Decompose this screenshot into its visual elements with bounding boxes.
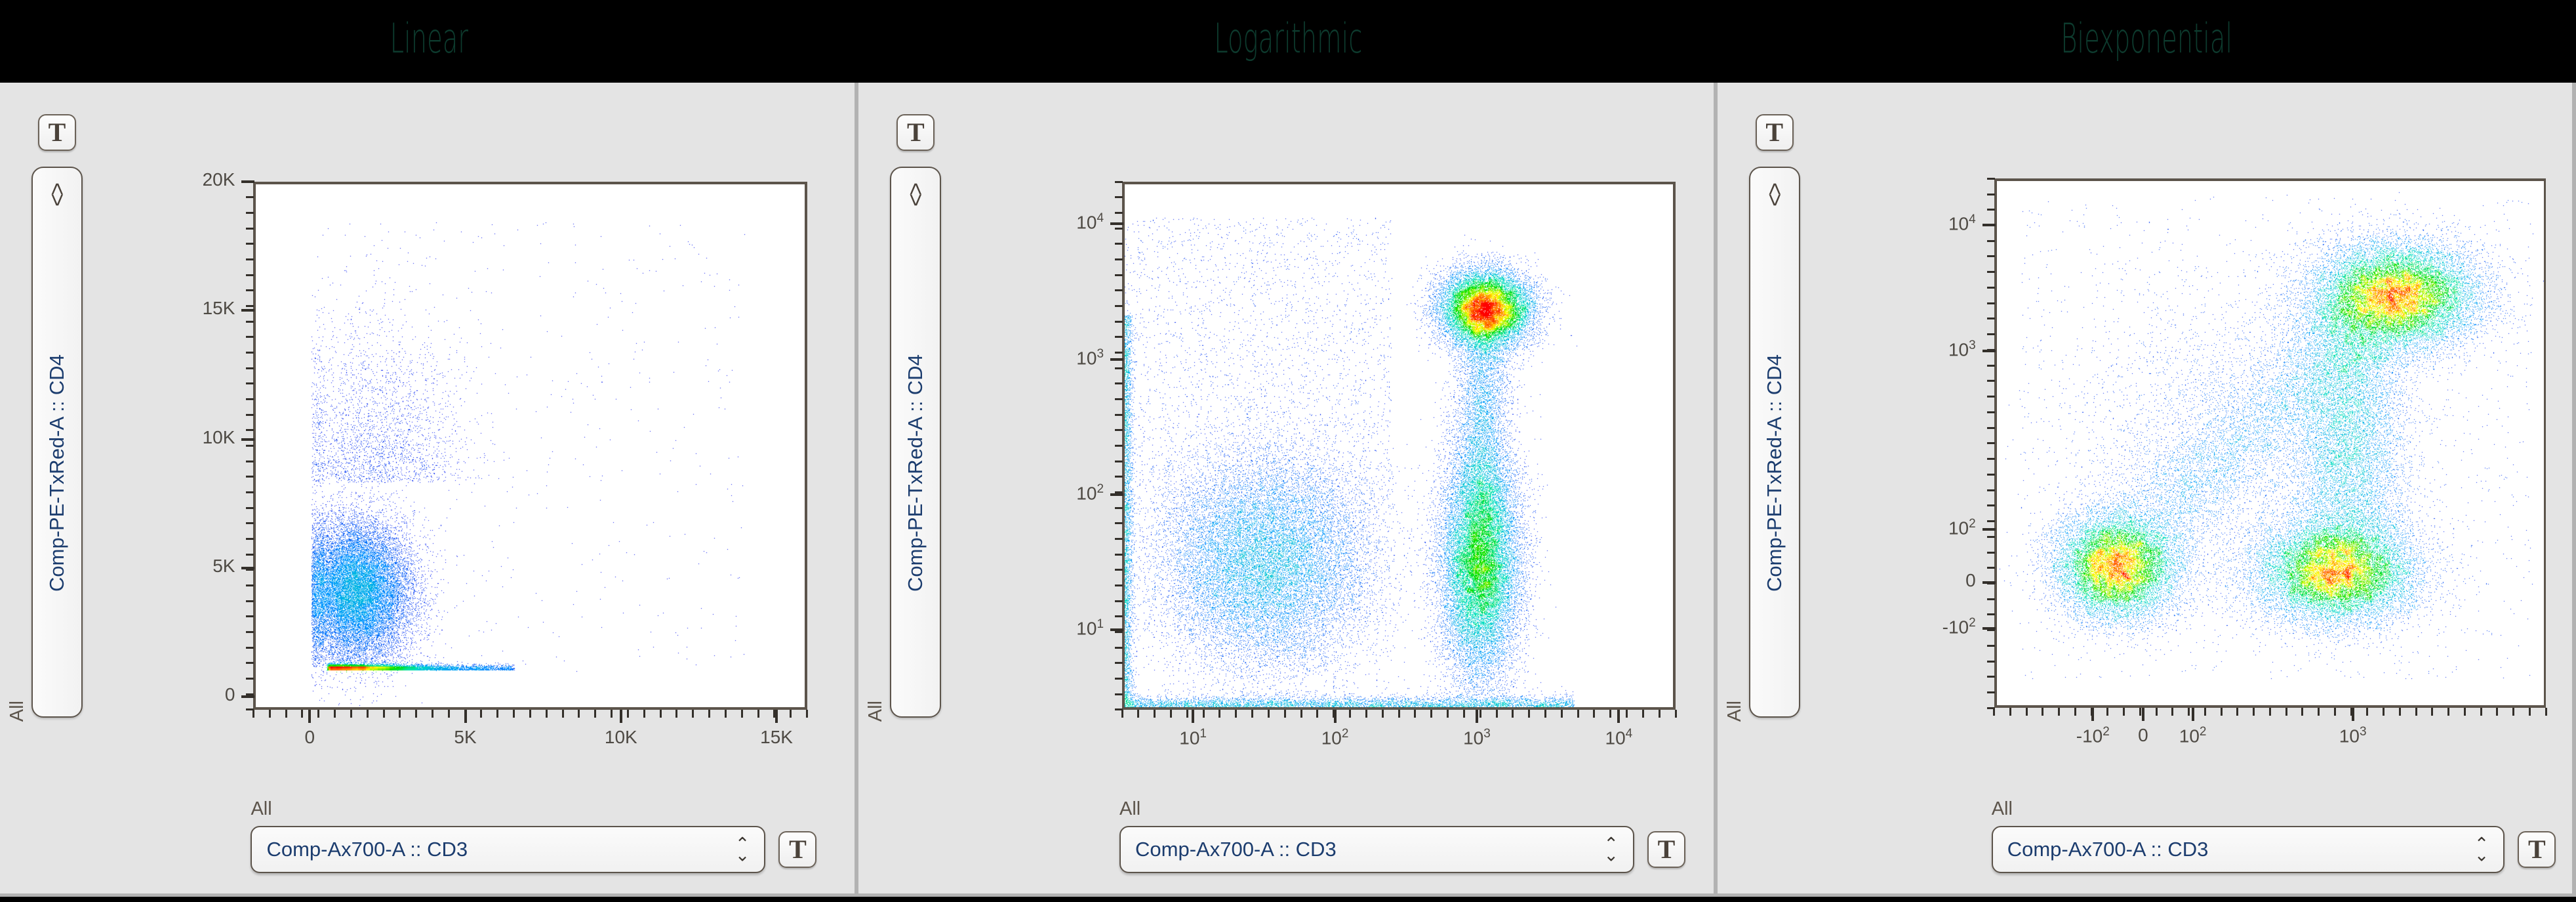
y-tick-minor [1987,598,1995,600]
y-tick-minor [246,647,254,649]
y-tick-minor [1987,209,1995,211]
x-tick-label: 102 [1289,727,1381,748]
title-cell-linear: Linear [0,0,858,77]
x-tick-minor [350,710,352,718]
x-tick-minor [1675,710,1677,718]
x-tick-minor [1642,710,1644,718]
panels-row: T<>Comp-PE-TxRed-A :: CD4All20K15K10K5K0… [0,77,2576,902]
y-tick-minor [1987,365,1995,367]
text-tool-icon: T [789,836,807,863]
y-tick-minor [1987,661,1995,663]
y-tick-minor [1115,228,1123,230]
x-tick-minor [269,710,271,718]
y-tick-minor [1987,224,1995,226]
scatter-canvas [256,184,804,707]
y-tick-minor [246,538,254,540]
spinner-stepper-icon[interactable]: ⌃⌄ [2474,838,2489,860]
x-axis-parameter-label: Comp-Ax700-A :: CD3 [2007,838,2209,861]
x-tick-minor [2009,708,2011,716]
x-tick-label: 102 [2147,725,2239,747]
y-tick-minor [246,414,254,416]
y-tick-minor [1987,411,1995,413]
x-tick-label: 10K [575,727,667,748]
y-tick-minor [1987,520,1995,522]
y-tick-minor [246,445,254,447]
page-title-linear: Linear [390,18,468,59]
plot-area-2: 1041031020-102-1020102103 [1994,178,2546,708]
x-tick-minor [692,710,694,718]
x-tick-minor [1333,710,1335,718]
y-tick-minor [1115,554,1123,556]
y-tick-minor [246,196,254,198]
x-tick-minor [594,710,596,718]
x-tick-minor [529,710,531,718]
x-tick-minor [1593,710,1595,718]
x-tick-minor [1463,710,1465,718]
x-tick-minor [806,710,808,718]
y-tick-minor [246,615,254,617]
text-tool-icon: T [1765,119,1783,146]
population-label-bottom: All [1119,798,1140,820]
x-tick-major [2192,708,2194,721]
x-tick-minor [1447,710,1449,718]
y-tick-minor [1115,196,1123,198]
title-cell-logarithmic: Logarithmic [858,0,1717,77]
x-tick-minor [2188,708,2190,716]
text-tool-button-y-axis[interactable]: T [1756,114,1794,151]
plot-frame [1122,182,1676,710]
x-axis-parameter-selector[interactable]: Comp-Ax700-A :: CD3⌃⌄ [1119,826,1634,873]
y-tick-minor [1987,645,1995,647]
x-tick-minor [1170,710,1172,718]
x-tick-minor [2123,708,2125,716]
x-tick-minor [1300,710,1302,718]
x-tick-minor [383,710,385,718]
chevron-left-right-icon: <> [46,182,68,205]
y-tick-minor [1987,396,1995,398]
y-tick-minor [1115,662,1123,664]
y-tick-minor [1115,507,1123,509]
x-tick-minor [367,710,369,718]
x-tick-minor [1218,710,1220,718]
x-tick-minor [2253,708,2255,716]
y-tick-label: 5K [143,556,235,577]
y-tick-minor [246,491,254,493]
spinner-down-icon: ⌄ [1603,850,1619,861]
x-tick-minor [2204,708,2206,716]
x-axis-control-row: Comp-Ax700-A :: CD3⌃⌄T [251,826,816,873]
x-tick-minor [2545,708,2547,716]
y-tick-minor [246,507,254,509]
x-tick-label: 101 [1147,727,1239,748]
y-tick-minor [1115,212,1123,214]
panel-logarithmic: T<>Comp-PE-TxRed-A :: CD4All104103102101… [858,83,1717,897]
y-tick-major [241,695,254,698]
y-tick-minor [246,289,254,291]
y-tick-minor [1987,380,1995,382]
x-tick-minor [2496,708,2498,716]
y-tick-minor [1115,476,1123,478]
x-tick-minor [773,710,775,718]
x-tick-minor [432,710,433,718]
x-tick-minor [448,710,450,718]
spinner-down-icon: ⌄ [735,850,750,861]
y-axis-parameter-label: Comp-PE-TxRed-A :: CD4 [904,223,927,716]
x-tick-minor [2512,708,2514,716]
x-tick-minor [301,710,303,718]
y-tick-minor [1987,255,1995,257]
x-tick-minor [496,710,498,718]
y-axis-parameter-label: Comp-PE-TxRed-A :: CD4 [1763,223,1786,716]
panel-biexponential: T<>Comp-PE-TxRed-A :: CD4All1041031020-1… [1718,83,2576,897]
y-tick-minor [246,258,254,260]
x-tick-minor [1496,710,1498,718]
x-tick-minor [1365,710,1367,718]
x-tick-major [1476,710,1478,723]
x-tick-minor [1659,710,1660,718]
y-tick-minor [246,429,254,431]
x-tick-minor [1382,710,1384,718]
y-tick-minor [1987,613,1995,615]
population-label-bottom: All [1992,798,2013,820]
x-tick-minor [480,710,482,718]
y-tick-major [241,438,254,441]
x-tick-minor [1235,710,1237,718]
text-tool-icon: T [1658,836,1676,863]
y-tick-minor [1987,552,1995,554]
x-tick-minor [2431,708,2433,716]
y-tick-minor [1987,583,1995,584]
x-tick-minor [546,710,548,718]
x-tick-minor [415,710,417,718]
y-tick-minor [246,352,254,354]
y-tick-major [1110,222,1123,225]
population-label-vertical: All [865,701,887,722]
x-tick-minor [2285,708,2287,716]
y-tick-minor [246,228,254,230]
y-tick-minor [1987,302,1995,304]
x-tick-label: 103 [1431,727,1523,748]
x-axis-control-row: Comp-Ax700-A :: CD3⌃⌄T [1992,826,2556,873]
x-tick-label: 104 [1573,727,1664,748]
x-tick-minor [611,710,613,718]
x-tick-minor [1154,710,1156,718]
y-tick-minor [246,662,254,664]
y-tick-minor [1115,414,1123,416]
x-axis-parameter-label: Comp-Ax700-A :: CD3 [1135,838,1337,861]
page-title-biexponential: Biexponential [2061,18,2232,59]
x-tick-minor [2529,708,2531,716]
population-label-vertical: All [7,701,28,722]
x-tick-minor [2383,708,2385,716]
y-tick-minor [1987,349,1995,351]
y-tick-minor [1115,305,1123,307]
y-tick-minor [246,522,254,524]
y-tick-minor [246,243,254,245]
y-tick-minor [246,693,254,695]
x-tick-minor [1121,710,1123,718]
y-tick-minor [246,382,254,384]
y-tick-minor [1987,194,1995,195]
y-tick-minor [246,631,254,633]
y-tick-minor [246,336,254,338]
y-tick-minor [1987,287,1995,289]
x-tick-minor [1284,710,1286,718]
y-tick-minor [1115,631,1123,633]
x-tick-minor [2026,708,2028,716]
x-tick-minor [285,710,287,718]
x-tick-minor [2221,708,2223,716]
x-tick-minor [757,710,759,718]
x-tick-minor [252,710,254,718]
y-tick-minor [246,600,254,602]
x-tick-minor [1349,710,1351,718]
x-tick-label: 15K [731,727,822,748]
x-tick-minor [2171,708,2173,716]
y-tick-minor [1115,243,1123,245]
x-tick-minor [464,710,466,718]
x-tick-minor [2415,708,2417,716]
x-tick-minor [1561,710,1563,718]
text-tool-icon: T [2528,836,2546,863]
x-tick-label: 103 [2307,725,2399,747]
x-tick-minor [1186,710,1188,718]
x-tick-minor [2464,708,2466,716]
y-tick-minor [246,305,254,307]
text-tool-icon: T [49,119,66,146]
x-axis-control-row: Comp-Ax700-A :: CD3⌃⌄T [1119,826,1685,873]
x-axis-parameter-label: Comp-Ax700-A :: CD3 [266,838,468,861]
x-tick-minor [1316,710,1318,718]
y-tick-label: 102 [1012,482,1104,504]
y-tick-minor [1115,569,1123,571]
left-rail: T<>Comp-PE-TxRed-A :: CD4All [0,83,111,893]
y-tick-minor [1987,536,1995,538]
panel-slot-0: T<>Comp-PE-TxRed-A :: CD4All20K15K10K5K0… [0,77,858,902]
y-tick-minor [1115,522,1123,524]
y-tick-major [1110,493,1123,496]
x-tick-minor [790,710,792,718]
x-tick-minor [2042,708,2043,716]
y-tick-minor [1987,567,1995,569]
plot-area-1: 104103102101101102103104 [1122,182,1676,710]
y-tick-minor [1115,382,1123,384]
title-cell-biexponential: Biexponential [1718,0,2576,77]
x-tick-minor [1203,710,1205,718]
y-tick-minor [1987,271,1995,273]
y-tick-minor [1987,427,1995,429]
y-tick-label: 10K [143,427,235,448]
scatter-canvas [1997,181,2544,705]
y-tick-minor [1987,178,1995,180]
x-tick-minor [643,710,645,718]
page-title-logarithmic: Logarithmic [1214,18,1362,59]
y-tick-minor [1987,240,1995,242]
x-tick-minor [2091,708,2093,716]
plot-frame [1994,178,2546,708]
x-tick-minor [1251,710,1253,718]
y-tick-label: 102 [1884,517,1976,539]
x-tick-minor [1544,710,1546,718]
x-tick-minor [1577,710,1579,718]
y-tick-minor [1115,367,1123,369]
y-tick-minor [1987,474,1995,476]
x-tick-minor [317,710,319,718]
y-tick-minor [1115,445,1123,447]
y-tick-minor [1115,398,1123,400]
text-tool-button-x-axis[interactable]: T [1647,831,1685,868]
y-tick-minor [1115,429,1123,431]
spinner-stepper-icon[interactable]: ⌃⌄ [1603,838,1619,860]
x-tick-minor [2269,708,2271,716]
x-tick-minor [562,710,564,718]
panel-slot-2: T<>Comp-PE-TxRed-A :: CD4All1041031020-1… [1718,77,2576,902]
x-tick-minor [725,710,727,718]
y-tick-label: 101 [1012,617,1104,639]
x-tick-major [2142,708,2144,721]
y-tick-minor [1115,321,1123,323]
y-tick-minor [1987,333,1995,335]
y-tick-minor [246,678,254,680]
x-tick-minor [1268,710,1270,718]
x-tick-minor [741,710,743,718]
x-tick-minor [2399,708,2401,716]
y-axis-parameter-selector[interactable]: <>Comp-PE-TxRed-A :: CD4 [890,167,941,718]
x-tick-minor [1626,710,1628,718]
x-tick-minor [2106,708,2108,716]
y-tick-minor [1987,442,1995,444]
y-tick-minor [246,398,254,400]
y-tick-minor [1987,489,1995,491]
y-axis-parameter-label: Comp-PE-TxRed-A :: CD4 [45,223,69,716]
x-tick-minor [1993,708,1995,716]
y-tick-minor [1115,693,1123,695]
x-tick-minor [334,710,336,718]
text-tool-button-x-axis[interactable]: T [778,831,816,868]
x-tick-minor [2058,708,2060,716]
y-tick-label: 104 [1012,211,1104,233]
population-label-vertical: All [1724,701,1746,722]
x-tick-minor [2318,708,2320,716]
y-tick-minor [246,584,254,586]
y-tick-label: -102 [1884,616,1976,638]
x-tick-minor [2074,708,2076,716]
panel-slot-1: T<>Comp-PE-TxRed-A :: CD4All104103102101… [858,77,1717,902]
x-tick-minor [2156,708,2158,716]
x-tick-minor [2236,708,2238,716]
x-tick-minor [513,710,515,718]
text-tool-button-x-axis[interactable]: T [2518,831,2556,868]
population-label-bottom: All [251,798,272,820]
y-tick-minor [1115,538,1123,540]
y-axis-parameter-selector[interactable]: <>Comp-PE-TxRed-A :: CD4 [1749,167,1800,718]
x-axis-parameter-selector[interactable]: Comp-Ax700-A :: CD3⌃⌄ [251,826,765,873]
y-tick-minor [1115,615,1123,617]
x-tick-label: 0 [264,727,355,748]
panel-linear: T<>Comp-PE-TxRed-A :: CD4All20K15K10K5K0… [0,83,858,897]
y-tick-label: 103 [1884,338,1976,360]
y-tick-minor [246,367,254,369]
y-tick-minor [246,461,254,462]
y-tick-minor [1115,600,1123,602]
y-tick-label: 0 [143,684,235,705]
y-axis-parameter-selector[interactable]: <>Comp-PE-TxRed-A :: CD4 [31,167,83,718]
spinner-down-icon: ⌄ [2474,850,2489,861]
x-tick-major [1617,710,1620,723]
x-tick-major [775,710,778,723]
text-tool-button-y-axis[interactable]: T [38,114,76,151]
y-tick-major [1110,358,1123,361]
y-tick-minor [246,212,254,214]
y-tick-minor [1115,258,1123,260]
y-tick-minor [1987,318,1995,319]
x-tick-minor [2301,708,2303,716]
y-tick-minor [1115,352,1123,354]
x-tick-minor [675,710,677,718]
y-tick-minor [1115,274,1123,276]
y-tick-minor [1115,647,1123,649]
x-tick-minor [399,710,401,718]
y-tick-major [1982,528,1996,531]
y-tick-major [241,309,254,312]
x-tick-minor [1528,710,1530,718]
chevron-left-right-icon: <> [904,182,927,205]
x-tick-minor [1430,710,1432,718]
x-tick-minor [2366,708,2368,716]
y-tick-minor [246,569,254,571]
x-tick-minor [2350,708,2352,716]
x-tick-minor [2447,708,2449,716]
y-tick-label: 0 [1884,570,1976,591]
spinner-stepper-icon[interactable]: ⌃⌄ [735,838,750,860]
y-tick-minor [246,476,254,478]
plot-area-0: 20K15K10K5K005K10K15K [253,182,807,710]
y-tick-label: 20K [143,169,235,190]
x-tick-minor [1414,710,1416,718]
x-tick-minor [627,710,629,718]
y-tick-minor [1115,336,1123,338]
x-axis-parameter-selector[interactable]: Comp-Ax700-A :: CD3⌃⌄ [1992,826,2505,873]
titles-row: Linear Logarithmic Biexponential [0,0,2576,77]
x-tick-major [1192,710,1194,723]
left-rail: T<>Comp-PE-TxRed-A :: CD4All [858,83,970,893]
y-tick-minor [246,274,254,276]
y-tick-minor [1987,691,1995,693]
x-tick-minor [578,710,580,718]
text-tool-button-y-axis[interactable]: T [896,114,935,151]
x-tick-minor [708,710,710,718]
x-tick-minor [1137,710,1139,718]
x-tick-label: 5K [420,727,512,748]
x-tick-minor [2139,708,2141,716]
y-tick-minor [246,321,254,323]
scatter-canvas [1125,184,1673,707]
y-tick-minor [1987,629,1995,631]
y-tick-label: 15K [143,298,235,319]
y-tick-label: 104 [1884,213,1976,234]
y-tick-minor [1115,181,1123,183]
y-tick-minor [1987,504,1995,506]
text-tool-icon: T [907,119,925,146]
y-tick-minor [1115,678,1123,680]
left-rail: T<>Comp-PE-TxRed-A :: CD4All [1718,83,1829,893]
x-tick-minor [2480,708,2482,716]
x-tick-minor [1512,710,1514,718]
x-tick-major [308,710,311,723]
y-tick-minor [1115,584,1123,586]
x-tick-minor [1479,710,1481,718]
x-tick-minor [660,710,662,718]
